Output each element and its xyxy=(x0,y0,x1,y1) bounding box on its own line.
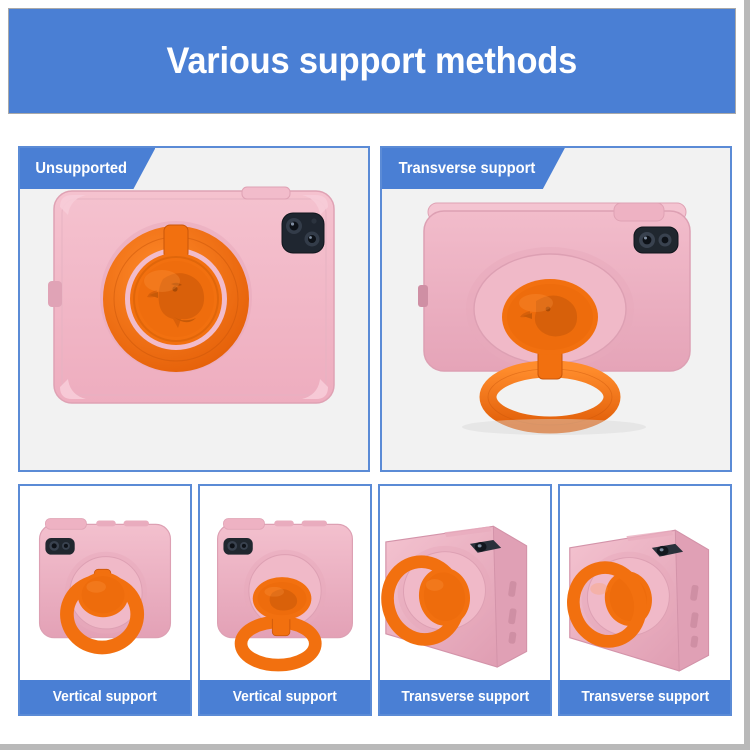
card-tag-transverse-support: Transverse support xyxy=(382,148,565,189)
tablet-portrait-ring-down-illustration xyxy=(20,486,190,680)
card-label-transverse-3: Transverse support xyxy=(380,680,550,714)
tablet-angled-left-stand-illustration xyxy=(380,486,550,680)
card-unsupported[interactable]: Unsupported xyxy=(18,146,370,472)
product-photo-transverse-4 xyxy=(560,486,730,680)
card-vertical-support-2[interactable]: Vertical support xyxy=(198,484,372,716)
tablet-landscape-kickstand-illustration xyxy=(386,159,726,459)
card-transverse-support-3[interactable]: Transverse support xyxy=(378,484,552,716)
card-label-transverse-4: Transverse support xyxy=(560,680,730,714)
product-photo-vertical-2 xyxy=(200,486,370,680)
product-photo-transverse-support xyxy=(382,148,730,470)
card-tag-unsupported: Unsupported xyxy=(20,148,155,189)
header-banner: Various support methods xyxy=(8,8,736,114)
card-label-vertical-1: Vertical support xyxy=(20,680,190,714)
tablet-portrait-ring-extended-illustration xyxy=(200,486,370,680)
card-transverse-support-4[interactable]: Transverse support xyxy=(558,484,732,716)
tablet-angled-right-stand-illustration xyxy=(560,486,730,680)
card-label-vertical-2: Vertical support xyxy=(200,680,370,714)
product-photo-transverse-3 xyxy=(380,486,550,680)
product-infographic: Various support methods xyxy=(0,0,750,750)
top-card-row: Unsupported xyxy=(18,146,732,472)
card-transverse-support[interactable]: Transverse support xyxy=(380,146,732,472)
tablet-rear-flat-illustration xyxy=(24,159,364,459)
product-photo-unsupported xyxy=(20,148,368,470)
page-title: Various support methods xyxy=(167,40,578,82)
card-vertical-support-1[interactable]: Vertical support xyxy=(18,484,192,716)
product-photo-vertical-1 xyxy=(20,486,190,680)
bottom-card-row: Vertical support xyxy=(18,484,732,716)
